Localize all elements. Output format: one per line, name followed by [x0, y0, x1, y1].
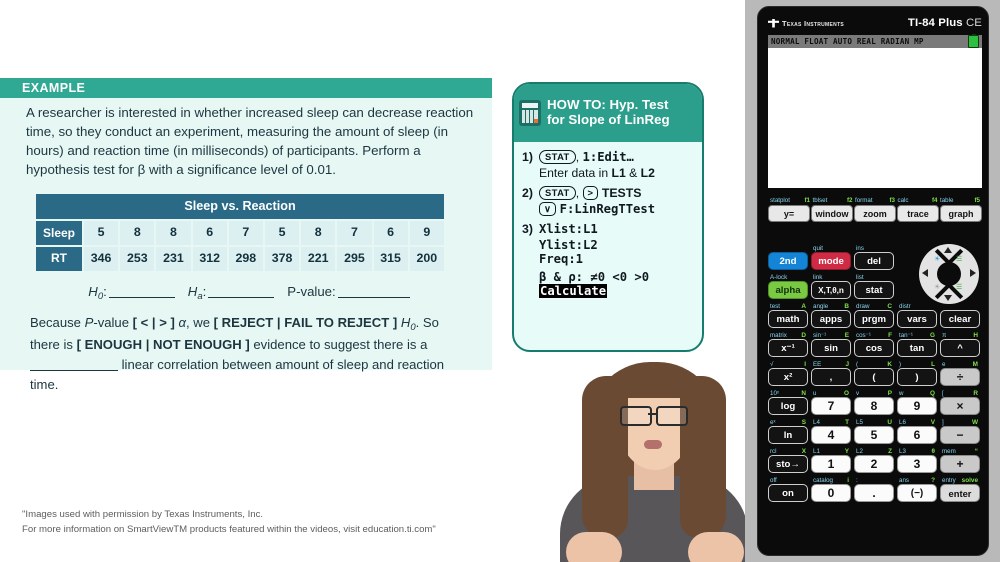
key-mode[interactable]: mode — [811, 252, 851, 270]
key-lparen-alpha: K — [887, 361, 892, 368]
fkey-label-0: statplot f1 — [770, 197, 810, 204]
key-6-alpha: V — [931, 419, 935, 426]
correlation-blank — [30, 370, 118, 371]
ti-brand-label: Texas Instruments — [782, 19, 844, 28]
fkey-fn-1: f2 — [847, 197, 853, 204]
key-cell-stat: list stat — [854, 272, 894, 299]
cell-sleep-4: 7 — [229, 221, 263, 245]
fkey-label-3: calc f4 — [898, 197, 938, 204]
key-prgm[interactable]: prgm — [854, 310, 894, 328]
function-key-labels: statplot f1 tblset f2 format f3 calc f4 … — [768, 197, 982, 204]
right-arrow-keycap[interactable]: > — [583, 186, 599, 200]
key-3-second: L3 — [899, 448, 906, 455]
key-xsq-alpha: I — [804, 361, 806, 368]
fkey-second-0: statplot — [770, 197, 790, 204]
presenter-hair-right — [680, 376, 726, 538]
key-1[interactable]: 1 — [811, 455, 851, 473]
ti-logo: Texas Instruments — [768, 19, 844, 28]
key-window[interactable]: window — [811, 205, 853, 222]
attribution-caption: "Images used with permission by Texas In… — [22, 508, 502, 538]
glasses-right-lens — [656, 406, 688, 426]
fkey-second-4: table — [940, 197, 953, 204]
key-enter-alpha: solve — [962, 477, 978, 484]
key-store[interactable]: sto→ — [768, 455, 808, 473]
fkey-second-3: calc — [898, 197, 909, 204]
key-ln[interactable]: ln — [768, 426, 808, 444]
key-xinv-second: matrix — [770, 332, 787, 339]
key-x-inverse[interactable]: x⁻¹ — [768, 339, 808, 357]
key-cos-second: cos⁻¹ — [856, 332, 871, 339]
howto-body: 1) STAT, 1:Edit… Enter data in L1 & L2 2… — [514, 142, 702, 298]
calculate-highlight[interactable]: Calculate — [539, 284, 607, 298]
key-stat[interactable]: stat — [854, 281, 894, 299]
key-7-alpha: O — [844, 390, 849, 397]
step-1-amp: & — [626, 166, 641, 180]
key-ln-second: eˣ — [770, 419, 775, 426]
cell-rt-8: 315 — [374, 247, 408, 271]
key-zoom[interactable]: zoom — [854, 205, 896, 222]
step-2-comma: , — [576, 186, 579, 200]
comparison-bracket: [ < | > ] — [133, 315, 175, 330]
step-3-line4: β & ρ: ≠0 <0 >0 — [539, 270, 694, 284]
cell-rt-3: 312 — [193, 247, 227, 271]
list-l1-label: L1 — [612, 166, 626, 180]
key-plus-second: mem — [942, 448, 956, 455]
key-multiply-second: [ — [942, 390, 944, 397]
cell-sleep-2: 8 — [156, 221, 190, 245]
key-4-second: L4 — [813, 419, 820, 426]
key-9-alpha: Q — [930, 390, 935, 397]
howto-title-line1: HOW TO: Hyp. Test — [547, 98, 670, 113]
keypad-row-0: 2nd quit mode ins del — [768, 243, 982, 270]
key-9-second: w — [899, 390, 903, 397]
presenter-fringe — [616, 368, 694, 398]
key-2-alpha: Z — [888, 448, 892, 455]
ti84-calculator: Texas Instruments TI-84 Plus CE NORMAL F… — [757, 6, 989, 556]
h0-blank — [109, 297, 175, 298]
key-caret-second: π — [942, 332, 946, 339]
key-comma-alpha: J — [845, 361, 849, 368]
key-on-second: off — [770, 477, 777, 484]
key-apps[interactable]: apps — [811, 310, 851, 328]
linregttest-menu-item: F:LinRegTTest — [560, 202, 655, 216]
stat-keycap-2[interactable]: STAT — [539, 186, 576, 200]
howto-title-line2: for Slope of LinReg — [547, 113, 670, 128]
key-2[interactable]: 2 — [854, 455, 894, 473]
key-alpha[interactable]: alpha — [768, 281, 808, 299]
key-prgm-second: draw — [856, 303, 869, 310]
key-stat-second: list — [856, 274, 864, 281]
decision-bracket: [ REJECT | FAIL TO REJECT ] — [214, 315, 398, 330]
key-cell-xton: link X,T,θ,n — [811, 272, 851, 299]
fkey-label-2: format f3 — [855, 197, 895, 204]
presenter-right-hand — [688, 532, 744, 562]
keypad-row-2: testAmath angleBapps drawCprgm distrvars… — [768, 301, 982, 328]
calculator-status-bar: NORMAL FLOAT AUTO REAL RADIAN MP — [768, 35, 982, 48]
key-right-paren[interactable]: ) — [897, 368, 937, 386]
row-label-rt: RT — [36, 247, 82, 271]
alpha-symbol: α — [179, 315, 186, 330]
step-3-line5-wrap: Calculate — [539, 284, 694, 298]
key-comma[interactable]: , — [811, 368, 851, 386]
table-title: Sleep vs. Reaction — [36, 194, 444, 220]
key-1-second: L1 — [813, 448, 820, 455]
keypad-row-5: 10ˣNlog uO7 vP8 wQ9 [R× — [768, 388, 982, 415]
key-cell-mode: quit mode — [811, 243, 851, 270]
key-apps-alpha: B — [844, 303, 849, 310]
fkey-label-1: tblset f2 — [813, 197, 853, 204]
key-alpha-second: A-lock — [770, 274, 787, 281]
h-label: H — [401, 315, 410, 330]
key-cell-alpha: A-lock alpha — [768, 272, 808, 299]
example-body: A researcher is interested in whether in… — [0, 98, 492, 394]
fkey-label-4: table f5 — [940, 197, 980, 204]
evidence-bracket: [ ENOUGH | NOT ENOUGH ] — [77, 337, 250, 352]
fkey-fn-2: f3 — [889, 197, 895, 204]
h0-colon: : — [103, 284, 107, 299]
key-trace[interactable]: trace — [897, 205, 939, 222]
pvalue-blank — [338, 297, 410, 298]
howto-step-1: 1) STAT, 1:Edit… — [522, 150, 694, 164]
fkey-fn-0: f1 — [804, 197, 810, 204]
ha-blank — [208, 297, 274, 298]
row-label-sleep: Sleep — [36, 221, 82, 245]
cell-sleep-3: 6 — [193, 221, 227, 245]
howto-step-2: 2) STAT, > TESTS — [522, 186, 694, 200]
cell-rt-0: 346 — [84, 247, 118, 271]
key-multiply-alpha: R — [973, 390, 978, 397]
key-plus[interactable]: + — [940, 455, 980, 473]
cell-sleep-5: 5 — [265, 221, 299, 245]
conclusion-part5: evidence to suggest there is a — [250, 337, 428, 352]
key-cos-alpha: F — [888, 332, 892, 339]
key-left-paren[interactable]: ( — [854, 368, 894, 386]
step-2-subline: ∨ F:LinRegTTest — [539, 202, 694, 216]
ha-label: H — [188, 284, 198, 299]
key-ln-alpha: S — [802, 419, 806, 426]
table-row: Sleep 5 8 8 6 7 5 8 7 6 9 — [36, 221, 444, 245]
example-header-label: EXAMPLE — [22, 81, 85, 95]
cell-sleep-9: 9 — [410, 221, 444, 245]
fkey-second-1: tblset — [813, 197, 828, 204]
cell-rt-5: 378 — [265, 247, 299, 271]
step-1-subline-pre: Enter data in — [539, 166, 612, 180]
brightness-up-icon: ☀ — [934, 256, 940, 263]
key-0[interactable]: 0 — [811, 484, 851, 502]
glasses-bridge — [648, 413, 658, 415]
key-decimal-second: : — [856, 477, 858, 484]
key-3[interactable]: 3 — [897, 455, 937, 473]
key-log-alpha: N — [801, 390, 806, 397]
key-xton-second: link — [813, 274, 822, 281]
key-8[interactable]: 8 — [854, 397, 894, 415]
tests-menu-label: TESTS — [602, 186, 642, 200]
conclusion-part6: linear correlation between amount of sle… — [30, 357, 444, 392]
model-suffix: CE — [966, 17, 982, 29]
key-cell-2nd: 2nd — [768, 243, 808, 270]
key-8-alpha: P — [888, 390, 892, 397]
howto-title: HOW TO: Hyp. Test for Slope of LinReg — [547, 98, 670, 128]
key-2-second: L2 — [856, 448, 863, 455]
key-comma-second: EE — [813, 361, 821, 368]
key-0-alpha: i — [847, 477, 849, 484]
key-mode-second: quit — [813, 245, 823, 252]
key-plus-alpha: “ — [975, 448, 978, 455]
key-divide-second: e — [942, 361, 945, 368]
keypad-row-3: matrixDx⁻¹ sin⁻¹Esin cos⁻¹Fcos tan⁻¹Gtan… — [768, 330, 982, 357]
hypothesis-blanks-line: H0: Ha: P-value: — [26, 283, 474, 303]
h0-label: H — [88, 284, 98, 299]
key-5-alpha: U — [887, 419, 892, 426]
key-sto-second: rcl — [770, 448, 777, 455]
key-x-t-theta-n[interactable]: X,T,θ,n — [811, 281, 851, 299]
key-enter-second: entry — [942, 477, 956, 484]
cell-rt-6: 221 — [301, 247, 335, 271]
key-cell-del: ins del — [854, 243, 894, 270]
conclusion-part2: -value — [93, 315, 132, 330]
key-tan-second: tan⁻¹ — [899, 332, 913, 339]
step-3-number: 3) — [522, 222, 539, 236]
keypad-row-8: offon catalogi0 :. ans?(−) entrysolveent… — [768, 475, 982, 502]
ti-logo-mark — [768, 19, 779, 28]
key-divide[interactable]: ÷ — [940, 368, 980, 386]
howto-header: HOW TO: Hyp. Test for Slope of LinReg — [514, 84, 702, 142]
pvalue-label: P-value: — [287, 284, 335, 299]
contrast-up-icon: ☰ — [956, 256, 962, 263]
cell-sleep-1: 8 — [120, 221, 154, 245]
key-caret-alpha: H — [973, 332, 978, 339]
step-1-number: 1) — [522, 150, 539, 164]
key-5-second: L5 — [856, 419, 863, 426]
example-paragraph: A researcher is interested in whether in… — [26, 104, 474, 180]
presenter-video — [556, 356, 752, 562]
presenter-hair-left — [582, 376, 628, 538]
key-math-alpha: A — [801, 303, 806, 310]
step-3-line3: Freq:1 — [539, 252, 694, 266]
key-minus[interactable]: − — [940, 426, 980, 444]
key-graph[interactable]: graph — [940, 205, 982, 222]
battery-icon — [968, 35, 979, 48]
caption-line-2: For more information on SmartViewTM prod… — [22, 523, 502, 538]
model-name: TI-84 Plus — [908, 17, 963, 29]
step-2-number: 2) — [522, 186, 539, 200]
key-0-second: catalog — [813, 477, 833, 484]
cell-rt-1: 253 — [120, 247, 154, 271]
dpad-up-arrow-icon[interactable] — [944, 247, 952, 253]
fkey-fn-3: f4 — [932, 197, 938, 204]
glasses-left-lens — [620, 406, 652, 426]
table-title-row: Sleep vs. Reaction — [36, 194, 444, 220]
presenter-left-hand — [566, 532, 622, 562]
conclusion-text: Because P-value [ < | > ] α, we [ REJECT… — [26, 313, 474, 394]
function-keys: y= window zoom trace graph — [768, 205, 982, 222]
step-1-command: 1:Edit… — [583, 150, 634, 164]
key-tan-alpha: G — [930, 332, 935, 339]
key-9[interactable]: 9 — [897, 397, 937, 415]
key-negate-alpha: ? — [931, 477, 935, 484]
key-x-squared[interactable]: x² — [768, 368, 808, 386]
key-8-second: v — [856, 390, 859, 397]
stat-keycap[interactable]: STAT — [539, 150, 576, 164]
key-del-second: ins — [856, 245, 864, 252]
key-on[interactable]: on — [768, 484, 808, 502]
key-decimal-point[interactable]: . — [854, 484, 894, 502]
key-6-second: L6 — [899, 419, 906, 426]
key-minus-alpha: W — [972, 419, 978, 426]
key-xsq-second: √ — [770, 361, 773, 368]
calculator-screen[interactable] — [768, 48, 982, 188]
key-vars[interactable]: vars — [897, 310, 937, 328]
status-bar-text: NORMAL FLOAT AUTO REAL RADIAN MP — [771, 37, 924, 46]
calculator-icon — [519, 100, 541, 126]
calculator-model: TI-84 Plus CE — [908, 17, 982, 29]
key-7-second: u — [813, 390, 816, 397]
calculator-panel: Texas Instruments TI-84 Plus CE NORMAL F… — [745, 0, 1000, 562]
key-sin-second: sin⁻¹ — [813, 332, 826, 339]
keypad-row-4: √Ix² EEJ, (K( )L) eM÷ — [768, 359, 982, 386]
key-4[interactable]: 4 — [811, 426, 851, 444]
key-y-equals[interactable]: y= — [768, 205, 810, 222]
key-2nd[interactable]: 2nd — [768, 252, 808, 270]
key-negate[interactable]: (−) — [897, 484, 937, 502]
key-rparen-alpha: L — [931, 361, 935, 368]
key-4-alpha: T — [845, 419, 849, 426]
key-math[interactable]: math — [768, 310, 808, 328]
sleep-vs-reaction-table: Sleep vs. Reaction Sleep 5 8 8 6 7 5 8 7… — [34, 192, 446, 273]
conclusion-part1: Because — [30, 315, 85, 330]
calculator-branding: Texas Instruments TI-84 Plus CE — [768, 16, 982, 30]
howto-card: HOW TO: Hyp. Test for Slope of LinReg 1)… — [512, 82, 704, 352]
key-negate-second: ans — [899, 477, 909, 484]
caption-line-1: "Images used with permission by Texas In… — [22, 508, 502, 523]
presenter-mouth — [644, 440, 662, 449]
step-1-comma: , — [576, 150, 579, 164]
cell-rt-7: 295 — [337, 247, 371, 271]
table-row: RT 346 253 231 312 298 378 221 295 315 2… — [36, 247, 444, 271]
key-enter[interactable]: enter — [940, 484, 980, 502]
calculator-keypad: 2nd quit mode ins del — [768, 243, 982, 504]
example-header: EXAMPLE — [0, 78, 492, 98]
key-sin[interactable]: sin — [811, 339, 851, 357]
key-5[interactable]: 5 — [854, 426, 894, 444]
key-prgm-alpha: C — [887, 303, 892, 310]
key-log[interactable]: log — [768, 397, 808, 415]
function-key-row: statplot f1 tblset f2 format f3 calc f4 … — [768, 197, 982, 222]
ha-colon: : — [203, 284, 207, 299]
cell-sleep-6: 8 — [301, 221, 335, 245]
key-lparen-second: ( — [856, 361, 858, 368]
key-rparen-second: ) — [899, 361, 901, 368]
key-3-alpha: θ — [932, 448, 935, 455]
keypad-row-6: eˣSln L4T4 L5U5 L6V6 ]W− — [768, 417, 982, 444]
cell-sleep-8: 6 — [374, 221, 408, 245]
key-xinv-alpha: D — [801, 332, 806, 339]
key-sin-alpha: E — [845, 332, 849, 339]
cell-rt-2: 231 — [156, 247, 190, 271]
key-tan[interactable]: tan — [897, 339, 937, 357]
key-log-second: 10ˣ — [770, 390, 779, 397]
key-clear[interactable]: clear — [940, 310, 980, 328]
key-apps-second: angle — [813, 303, 828, 310]
conclusion-part3: , we — [186, 315, 214, 330]
key-multiply[interactable]: × — [940, 397, 980, 415]
cell-rt-9: 200 — [410, 247, 444, 271]
key-6[interactable]: 6 — [897, 426, 937, 444]
example-panel: EXAMPLE A researcher is interested in wh… — [0, 78, 492, 370]
key-minus-second: ] — [942, 419, 944, 426]
keypad-row-1: A-lock alpha link X,T,θ,n list stat — [768, 272, 982, 299]
key-divide-alpha: M — [973, 361, 978, 368]
howto-step-3: 3) Xlist:L1 — [522, 222, 694, 236]
key-1-alpha: Y — [845, 448, 849, 455]
key-del[interactable]: del — [854, 252, 894, 270]
fkey-fn-4: f5 — [974, 197, 980, 204]
step-1-subline: Enter data in L1 & L2 — [539, 166, 694, 180]
cell-rt-4: 298 — [229, 247, 263, 271]
cell-sleep-7: 7 — [337, 221, 371, 245]
fkey-second-2: format — [855, 197, 873, 204]
keypad-row-7: rclXsto→ L1Y1 L2Z2 L3θ3 mem“+ — [768, 446, 982, 473]
key-cos[interactable]: cos — [854, 339, 894, 357]
step-3-line2: Ylist:L2 — [539, 238, 694, 252]
cell-sleep-0: 5 — [84, 221, 118, 245]
down-arrow-keycap[interactable]: ∨ — [539, 202, 556, 216]
key-sto-alpha: X — [802, 448, 806, 455]
key-7[interactable]: 7 — [811, 397, 851, 415]
key-vars-second: distr — [899, 303, 911, 310]
key-caret[interactable]: ^ — [940, 339, 980, 357]
list-l2-label: L2 — [641, 166, 655, 180]
key-math-second: test — [770, 303, 780, 310]
step-3-line1: Xlist:L1 — [539, 222, 694, 236]
